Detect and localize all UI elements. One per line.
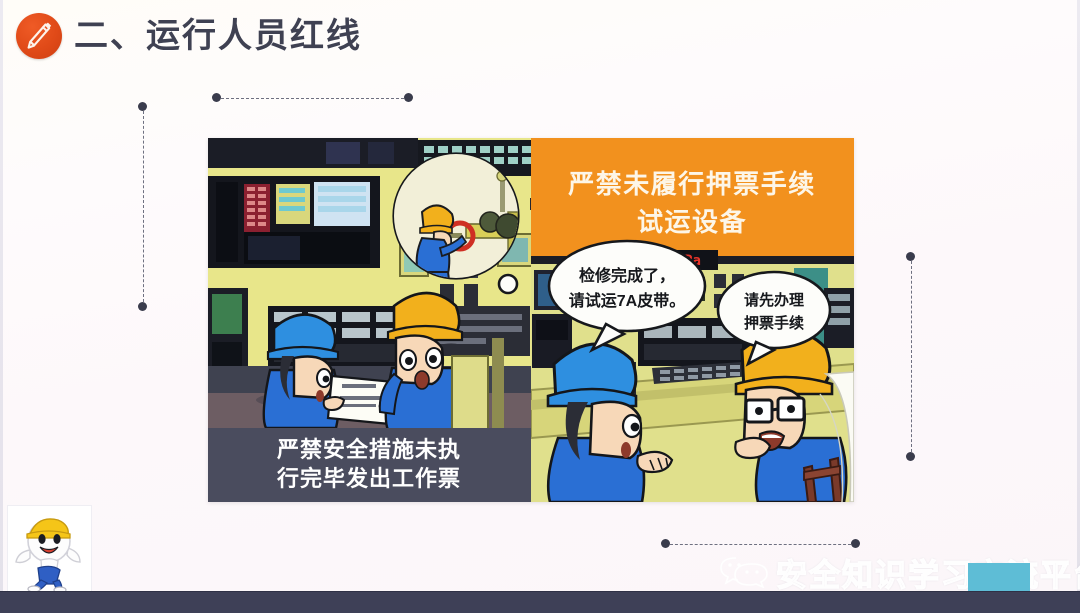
decor-line-left: [143, 111, 144, 302]
bottom-bar: [0, 592, 1080, 613]
watermark-text: 安全知识学习交流平台: [776, 550, 1080, 595]
illustration-banner-line1: 严禁未履行押票手续: [568, 169, 816, 199]
illustration-banner-line2: 试运设备: [637, 207, 747, 237]
decor-dot-top-right: [404, 93, 413, 102]
slide-header: 二、运行人员红线: [0, 0, 1080, 78]
safety-mascot-card: [8, 506, 91, 592]
decor-dot-right-upper: [906, 252, 915, 261]
slide-left-edge: [0, 0, 3, 592]
illustration-caption-line2: 行完毕发出工作票: [276, 466, 461, 491]
bubble-left-line1: 检修完成了，: [579, 266, 675, 285]
decor-dot-left-upper: [138, 102, 147, 111]
page-title: 二、运行人员红线: [74, 11, 634, 61]
wechat-icon: [718, 554, 772, 593]
decor-dot-left-lower: [138, 302, 147, 311]
slide-canvas: 二、运行人员红线: [0, 0, 1080, 613]
illustration-caption-line1: 严禁安全措施未执: [277, 437, 461, 462]
safety-illustration: 严禁安全措施未执 行完毕发出工作票 严禁未履行押票手续 试运设备 -80.2 K…: [208, 138, 854, 502]
decor-line-top: [221, 98, 404, 99]
pencil-icon: [16, 13, 62, 59]
bubble-right-line1: 请先办理: [744, 291, 804, 309]
decor-dot-bottom-right: [851, 539, 860, 548]
decor-dot-right-lower: [906, 452, 915, 461]
decor-line-right: [911, 261, 912, 452]
decor-dot-bottom-left: [661, 539, 670, 548]
bubble-right-line2: 押票手续: [744, 314, 804, 332]
bubble-left-line2: 请试运7A皮带。: [569, 291, 685, 310]
decor-line-bottom: [670, 544, 851, 545]
decor-dot-top-left: [212, 93, 221, 102]
